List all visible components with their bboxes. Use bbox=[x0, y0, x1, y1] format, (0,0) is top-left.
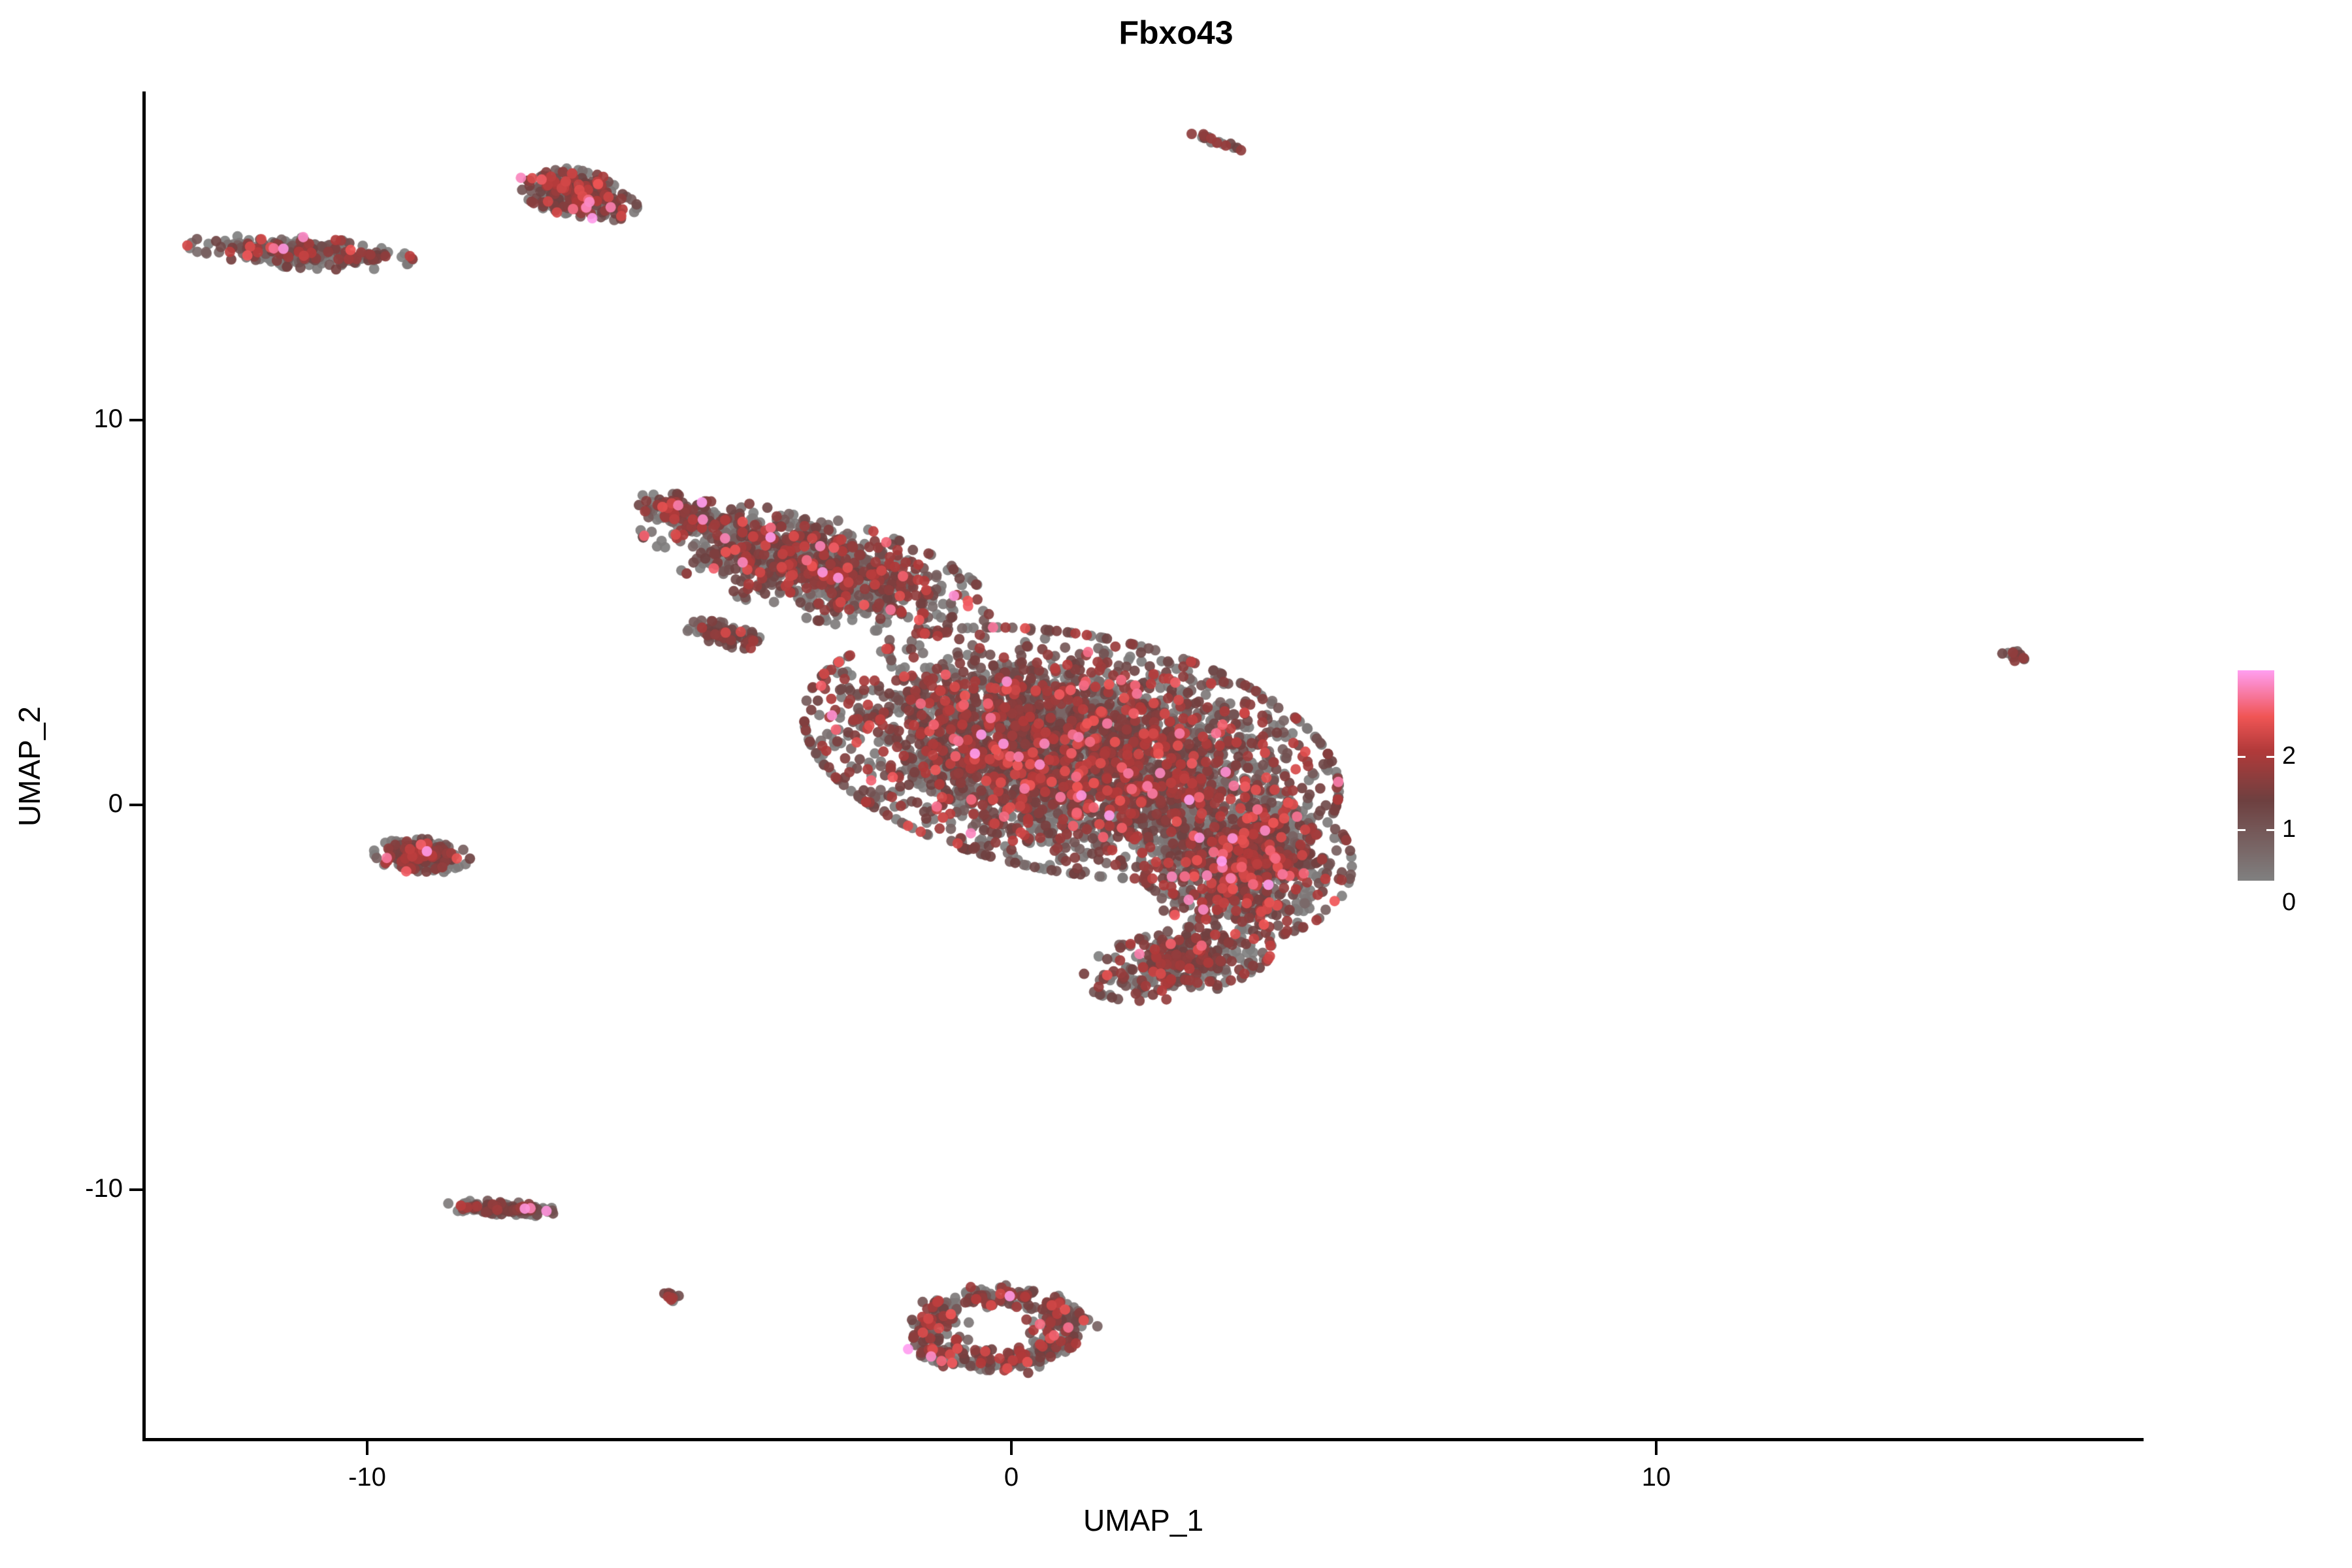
page-title: Fbxo43 bbox=[0, 13, 2352, 52]
legend-tick-2-left bbox=[2238, 756, 2246, 758]
legend-label-1: 1 bbox=[2282, 817, 2296, 841]
y-axis-title: UMAP_2 bbox=[12, 407, 47, 1126]
y-tick-label-neg10: -10 bbox=[85, 1175, 123, 1201]
x-tick-label-0: 0 bbox=[1004, 1462, 1019, 1492]
x-tick-mark-10 bbox=[1655, 1441, 1658, 1455]
y-tick-mark-10 bbox=[129, 419, 142, 421]
x-tick-mark-neg10 bbox=[366, 1441, 368, 1455]
x-tick-label-10: 10 bbox=[1642, 1462, 1671, 1492]
x-tick-label-neg10: -10 bbox=[348, 1462, 386, 1492]
legend-tick-0-right bbox=[2266, 902, 2274, 904]
feature-plot-figure: Fbxo43 10 0 -10 -10 0 10 UMAP_1 UMAP_2 2… bbox=[0, 0, 2352, 1568]
y-axis-line bbox=[142, 91, 146, 1441]
x-axis-line bbox=[142, 1438, 2144, 1441]
legend-tick-0-left bbox=[2238, 902, 2246, 904]
legend-tick-2-right bbox=[2266, 756, 2274, 758]
x-tick-mark-0 bbox=[1010, 1441, 1013, 1455]
y-tick-label-0: 0 bbox=[108, 791, 123, 817]
legend-label-0: 0 bbox=[2282, 890, 2296, 915]
plot-panel bbox=[144, 91, 2143, 1439]
color-legend-gradient-bar bbox=[2238, 670, 2274, 881]
y-tick-mark-neg10 bbox=[129, 1188, 142, 1191]
y-tick-label-10: 10 bbox=[94, 406, 123, 432]
legend-label-2: 2 bbox=[2282, 743, 2296, 768]
legend-tick-1-left bbox=[2238, 829, 2246, 831]
color-legend: 2 1 0 bbox=[2238, 670, 2274, 881]
legend-tick-1-right bbox=[2266, 829, 2274, 831]
x-axis-title: UMAP_1 bbox=[144, 1503, 2143, 1538]
scatter-points-canvas bbox=[144, 91, 2143, 1439]
y-tick-mark-0 bbox=[129, 804, 142, 806]
